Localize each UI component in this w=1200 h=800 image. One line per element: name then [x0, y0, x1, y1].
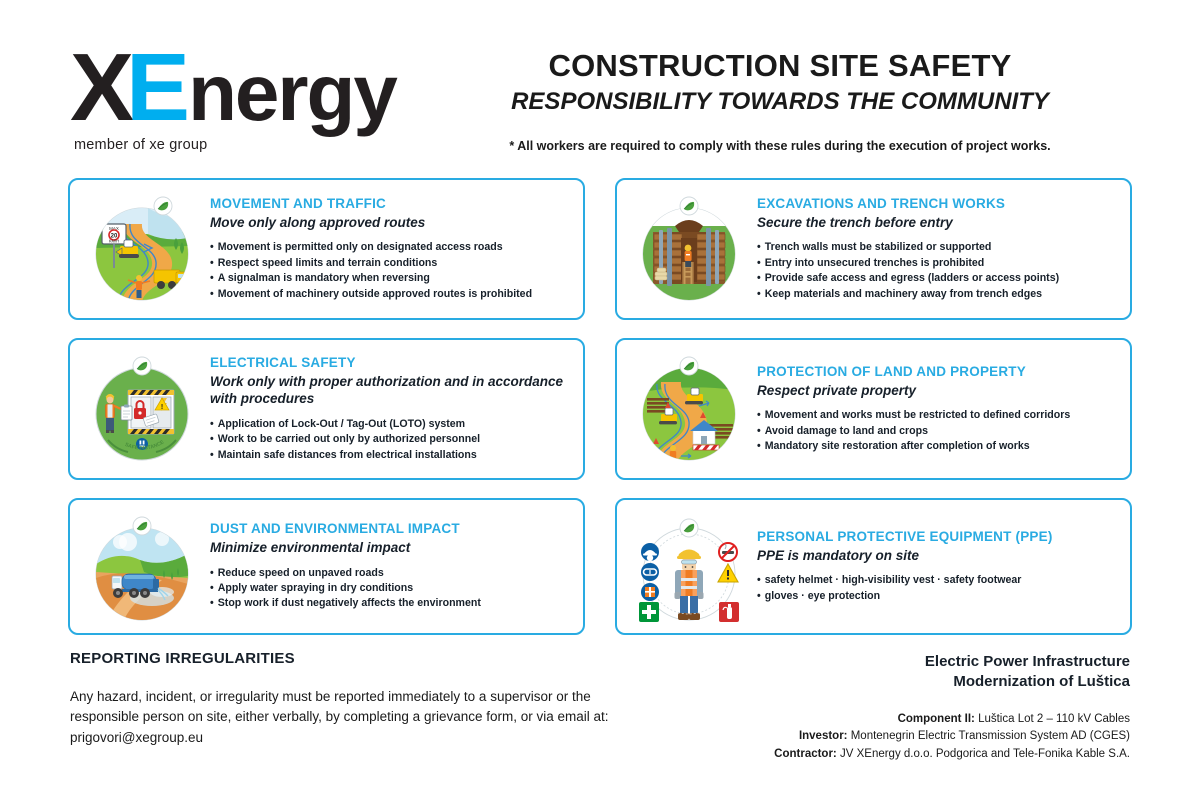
- logo-letter-e: E: [126, 34, 188, 141]
- compliance-note: * All workers are required to comply wit…: [430, 139, 1130, 153]
- card-illustration: MAX 20 KM/H: [78, 186, 206, 312]
- bullet-item: Avoid damage to land and crops: [757, 424, 1114, 439]
- card-subtitle: Minimize environmental impact: [210, 539, 567, 557]
- bullet-item: Provide safe access and egress (ladders …: [757, 271, 1114, 286]
- card-content: PERSONAL PROTECTIVE EQUIPMENT (PPE) PPE …: [753, 529, 1120, 604]
- bullet-item: Application of Lock-Out / Tag-Out (LOTO)…: [210, 417, 567, 432]
- card-bullet-list: safety helmet · high-visibility vest · s…: [757, 573, 1114, 604]
- bullet-item: Maintain safe distances from electrical …: [210, 448, 567, 463]
- meta-label: Component II:: [898, 713, 975, 725]
- bullet-item: Mandatory site restoration after complet…: [757, 439, 1114, 454]
- bullet-item: Entry into unsecured trenches is prohibi…: [757, 256, 1114, 271]
- card-personal-protective-equipment[interactable]: PERSONAL PROTECTIVE EQUIPMENT (PPE) PPE …: [615, 498, 1132, 635]
- card-illustration: [78, 506, 206, 627]
- svg-text:KM/H: KM/H: [109, 239, 119, 244]
- project-title-line-2: Modernization of Luštica: [610, 672, 1130, 692]
- page-header: XEnergy member of xe group CONSTRUCTION …: [0, 0, 1200, 160]
- card-content: PROTECTION OF LAND AND PROPERTY Respect …: [753, 364, 1120, 455]
- bullet-item: Trench walls must be stabilized or suppo…: [757, 240, 1114, 255]
- card-bullet-list: Movement is permitted only on designated…: [210, 240, 567, 301]
- card-content: ELECTRICAL SAFETY Work only with proper …: [206, 355, 573, 463]
- meta-label: Contractor:: [774, 748, 837, 760]
- card-protection-of-land-and-property[interactable]: PROTECTION OF LAND AND PROPERTY Respect …: [615, 338, 1132, 480]
- card-bullet-list: Movement and works must be restricted to…: [757, 408, 1114, 454]
- bullet-item: Apply water spraying in dry conditions: [210, 581, 567, 596]
- card-title: DUST AND ENVIRONMENTAL IMPACT: [210, 521, 567, 538]
- bullet-item: Movement and works must be restricted to…: [757, 408, 1114, 423]
- land-property-corridor-medallion-icon: [625, 346, 753, 474]
- fire-extinguisher-icon: [719, 602, 739, 622]
- title-block: CONSTRUCTION SITE SAFETY RESPONSIBILITY …: [430, 30, 1130, 153]
- project-title-line-1: Electric Power Infrastructure: [610, 652, 1130, 672]
- card-electrical-safety[interactable]: !: [68, 338, 585, 480]
- water-tanker-truck-medallion-icon: [78, 506, 206, 634]
- eco-leaf-badge-icon: [154, 197, 172, 215]
- card-content: MOVEMENT AND TRAFFIC Move only along app…: [206, 196, 573, 302]
- brand-logo: XEnergy member of xe group: [70, 30, 430, 153]
- no-smoking-prohibition-icon: [719, 543, 737, 561]
- card-bullet-list: Application of Lock-Out / Tag-Out (LOTO)…: [210, 417, 567, 463]
- safety-rules-grid: MAX 20 KM/H: [68, 178, 1132, 635]
- meta-value: JV XEnergy d.o.o. Podgorica and Tele-Fon…: [840, 748, 1130, 760]
- card-dust-and-environmental-impact[interactable]: DUST AND ENVIRONMENTAL IMPACT Minimize e…: [68, 498, 585, 635]
- card-subtitle: Secure the trench before entry: [757, 214, 1114, 232]
- road-traffic-medallion-icon: MAX 20 KM/H: [78, 186, 206, 314]
- eco-leaf-badge-icon: [680, 357, 698, 375]
- card-illustration: [625, 346, 753, 472]
- bullet-item: Stop work if dust negatively affects the…: [210, 596, 567, 611]
- logo-text-nergy: nergy: [188, 48, 396, 137]
- meta-value: Luštica Lot 2 – 110 kV Cables: [978, 713, 1130, 725]
- card-title: ELECTRICAL SAFETY: [210, 355, 567, 372]
- eco-leaf-badge-icon: [680, 519, 698, 537]
- card-title: PROTECTION OF LAND AND PROPERTY: [757, 364, 1114, 381]
- logo-letter-x: X: [70, 34, 126, 141]
- page-subtitle: RESPONSIBILITY TOWARDS THE COMMUNITY: [430, 86, 1130, 117]
- card-excavations-and-trench-works[interactable]: EXCAVATIONS AND TRENCH WORKS Secure the …: [615, 178, 1132, 320]
- page-footer: REPORTING IRREGULARITIES Any hazard, inc…: [0, 650, 1200, 764]
- bullet-item: Movement is permitted only on designated…: [210, 240, 567, 255]
- bullet-item: safety helmet · high-visibility vest · s…: [757, 573, 1114, 588]
- hivis-vest-mandatory-icon: [641, 583, 659, 601]
- card-illustration: !: [78, 346, 206, 472]
- first-aid-kit-icon: [639, 602, 659, 622]
- card-content: DUST AND ENVIRONMENTAL IMPACT Minimize e…: [206, 521, 573, 612]
- card-subtitle: Move only along approved routes: [210, 214, 567, 232]
- reporting-text: Any hazard, incident, or irregularity mu…: [70, 687, 610, 748]
- trench-shoring-medallion-icon: [625, 186, 753, 314]
- card-title: MOVEMENT AND TRAFFIC: [210, 196, 567, 213]
- meta-label: Investor:: [799, 730, 848, 742]
- bullet-item: gloves · eye protection: [757, 589, 1114, 604]
- svg-text:!: !: [161, 404, 163, 411]
- meta-value: Montenegrin Electric Transmission System…: [851, 730, 1130, 742]
- reporting-section: REPORTING IRREGULARITIES Any hazard, inc…: [70, 650, 610, 764]
- card-bullet-list: Trench walls must be stabilized or suppo…: [757, 240, 1114, 301]
- eco-leaf-badge-icon: [680, 197, 698, 215]
- card-illustration: [625, 186, 753, 312]
- project-meta-row: Contractor: JV XEnergy d.o.o. Podgorica …: [610, 746, 1130, 764]
- card-illustration: [625, 506, 753, 627]
- project-meta-row: Component II: Luštica Lot 2 – 110 kV Cab…: [610, 711, 1130, 729]
- bullet-item: A signalman is mandatory when reversing: [210, 271, 567, 286]
- reporting-heading: REPORTING IRREGULARITIES: [70, 650, 610, 667]
- page-title: CONSTRUCTION SITE SAFETY: [430, 48, 1130, 84]
- bullet-item: Keep materials and machinery away from t…: [757, 287, 1114, 302]
- bullet-item: Respect speed limits and terrain conditi…: [210, 256, 567, 271]
- card-bullet-list: Reduce speed on unpaved roads Apply wate…: [210, 566, 567, 612]
- bullet-item: Work to be carried out only by authorize…: [210, 432, 567, 447]
- project-meta-list: Component II: Luštica Lot 2 – 110 kV Cab…: [610, 711, 1130, 764]
- card-subtitle: PPE is mandatory on site: [757, 547, 1114, 565]
- project-info-section: Electric Power Infrastructure Modernizat…: [610, 650, 1130, 764]
- card-title: PERSONAL PROTECTIVE EQUIPMENT (PPE): [757, 529, 1114, 546]
- card-title: EXCAVATIONS AND TRENCH WORKS: [757, 196, 1114, 213]
- eco-leaf-badge-icon: [133, 517, 151, 535]
- eco-leaf-badge-icon: [133, 357, 151, 375]
- eye-protection-mandatory-icon: [641, 563, 659, 581]
- bullet-item: Reduce speed on unpaved roads: [210, 566, 567, 581]
- electrical-cabinet-loto-medallion-icon: !: [78, 346, 206, 474]
- card-content: EXCAVATIONS AND TRENCH WORKS Secure the …: [753, 196, 1120, 302]
- card-movement-and-traffic[interactable]: MAX 20 KM/H: [68, 178, 585, 320]
- bullet-item: Movement of machinery outside approved r…: [210, 287, 567, 302]
- logo-wordmark: XEnergy: [70, 42, 430, 133]
- card-subtitle: Work only with proper authorization and …: [210, 373, 567, 408]
- ppe-worker-medallion-icon: [625, 506, 753, 634]
- project-meta-row: Investor: Montenegrin Electric Transmiss…: [610, 728, 1130, 746]
- card-subtitle: Respect private property: [757, 382, 1114, 400]
